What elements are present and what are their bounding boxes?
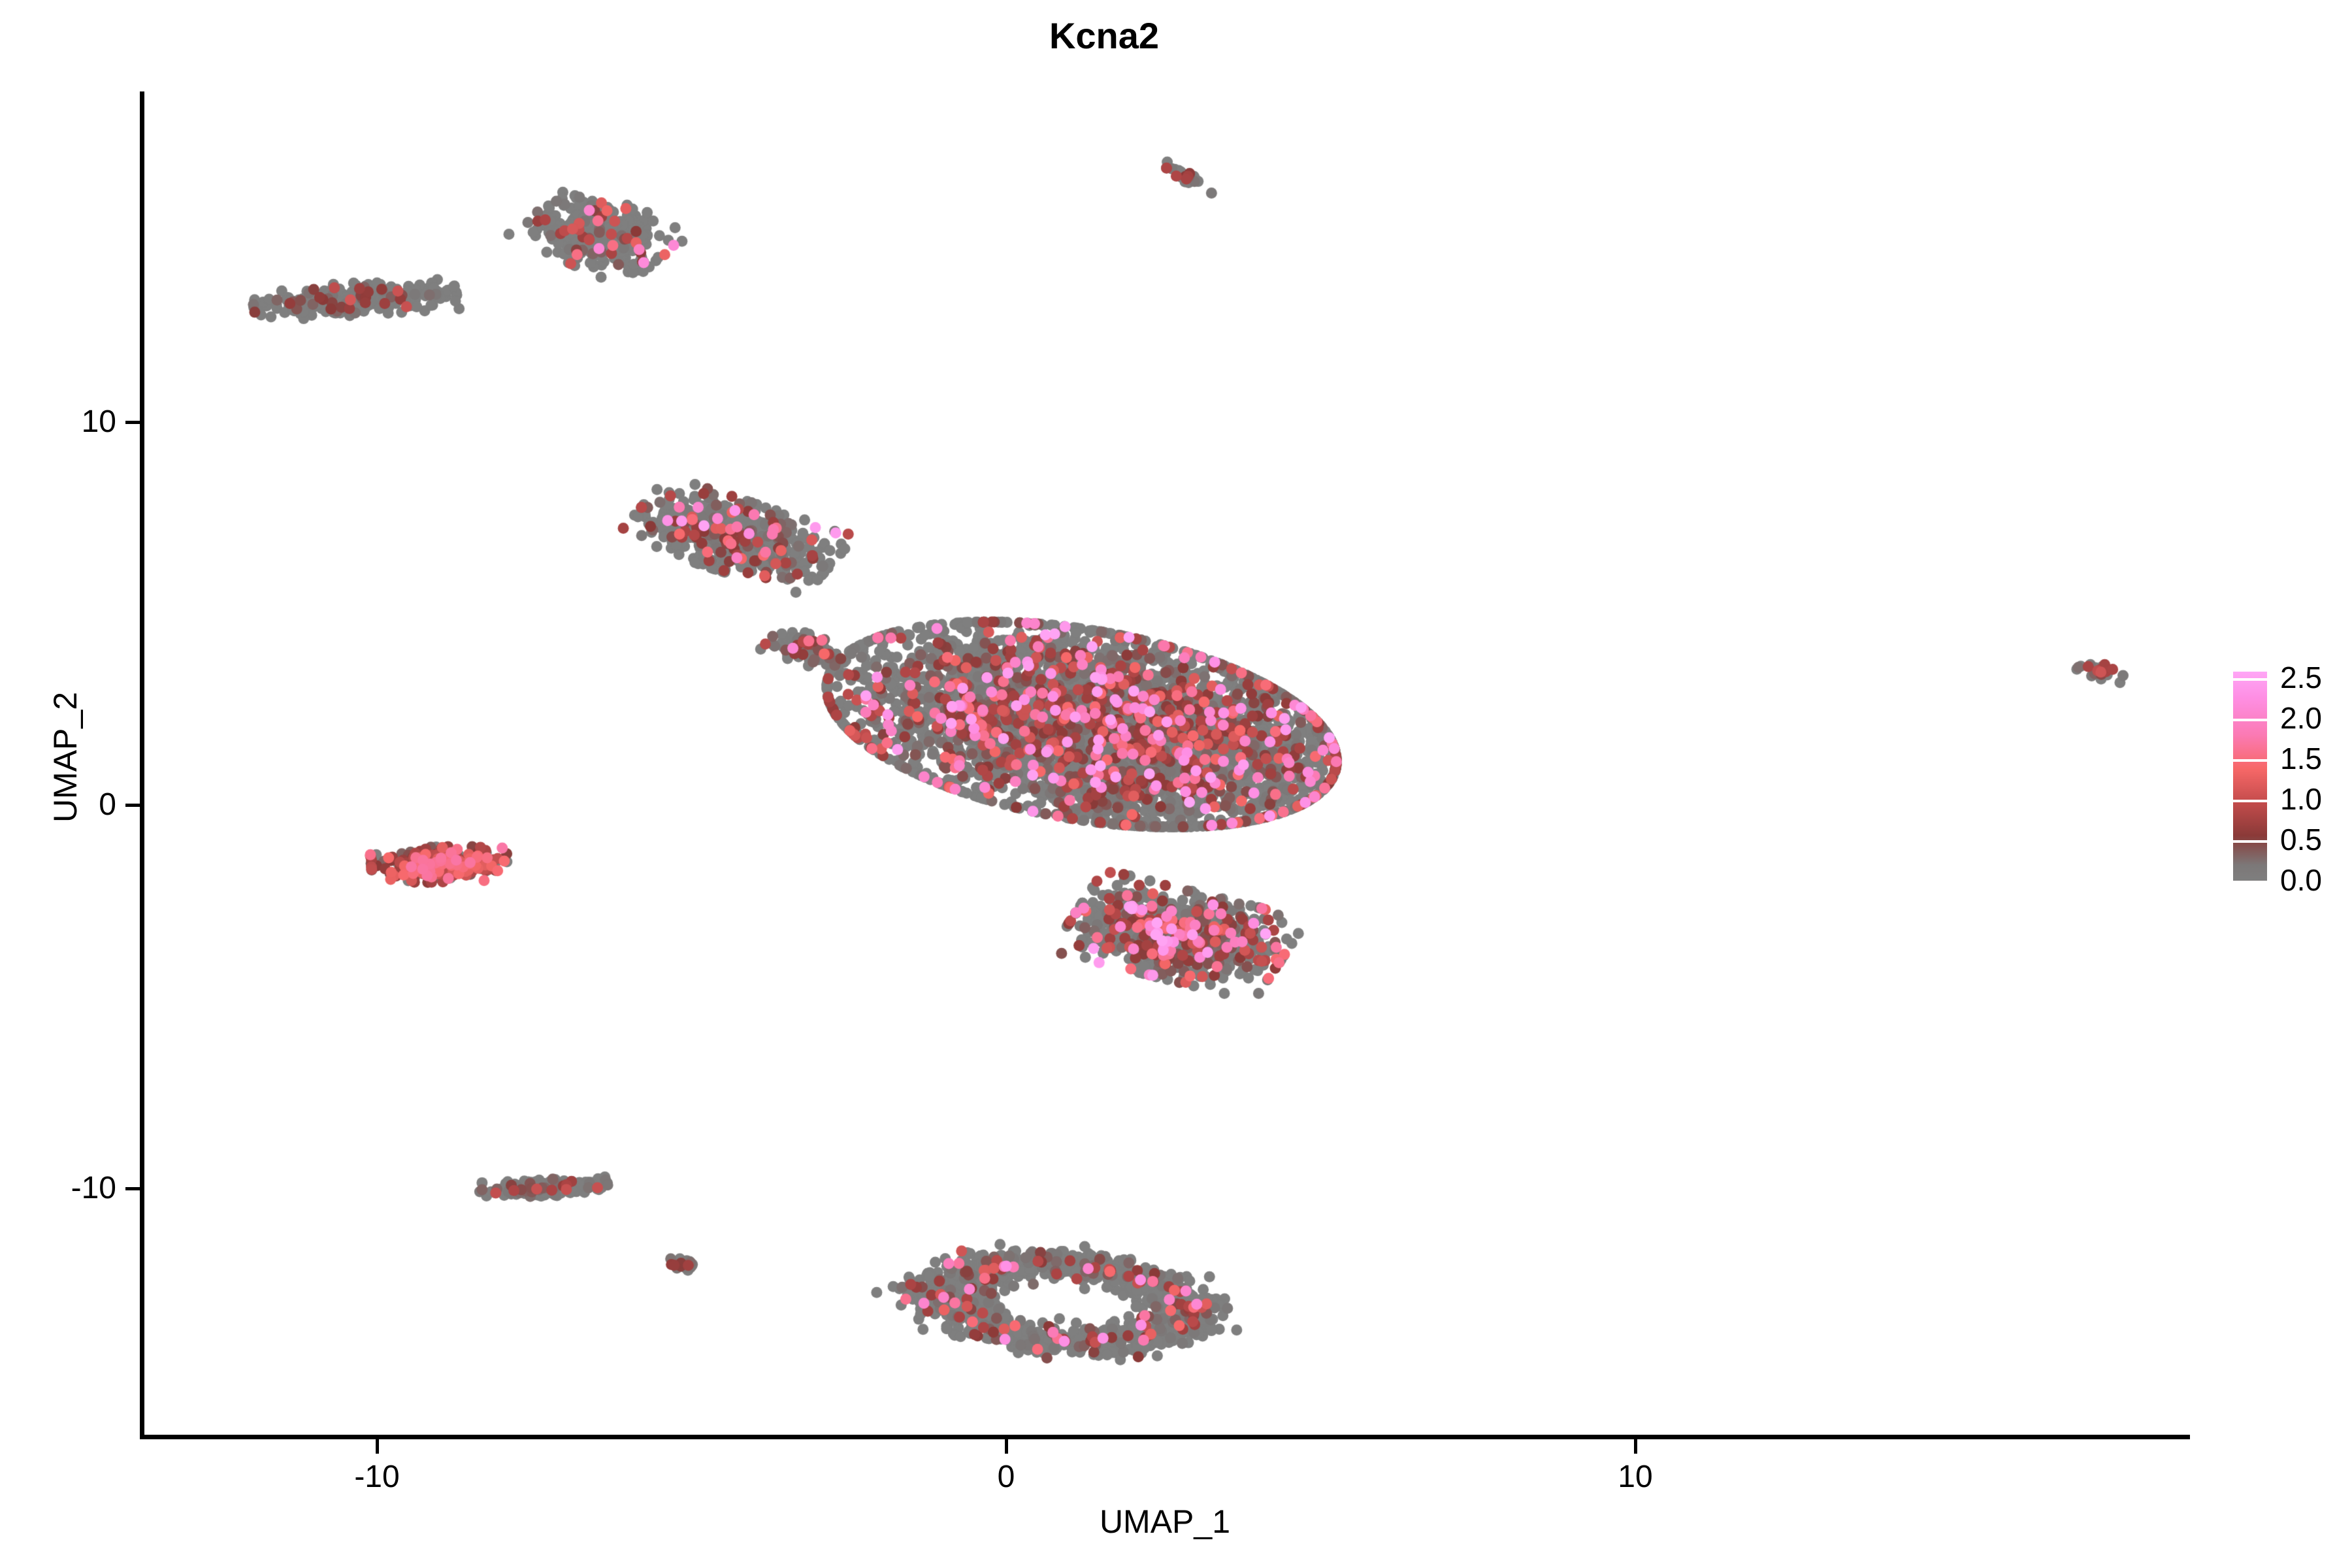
x-tick-mark: [1005, 1439, 1008, 1454]
legend-tick-mark: [2233, 840, 2267, 843]
legend-tick-label: 2.5: [2280, 662, 2322, 693]
x-tick-label: 10: [1563, 1459, 1707, 1495]
legend-tick-mark: [2233, 881, 2267, 883]
plot-panel: [144, 91, 2189, 1436]
color-legend: 0.00.51.01.52.02.5: [2233, 672, 2344, 882]
legend-tick-label: 1.5: [2280, 743, 2322, 774]
x-axis-title: UMAP_1: [140, 1503, 2190, 1541]
x-tick-label: -10: [305, 1459, 449, 1495]
page-title: Kcna2: [0, 14, 2208, 57]
x-tick-label: 0: [934, 1459, 1078, 1495]
y-axis-line: [140, 91, 144, 1439]
legend-tick-mark: [2233, 678, 2267, 681]
x-axis-line: [140, 1435, 2190, 1439]
scatter-plot-canvas: [144, 91, 2189, 1436]
legend-tick-mark: [2233, 800, 2267, 802]
legend-tick-mark: [2233, 759, 2267, 762]
legend-tick-mark: [2233, 719, 2267, 721]
x-tick-mark: [376, 1439, 379, 1454]
legend-tick-label: 1.0: [2280, 784, 2322, 814]
legend-tick-label: 0.0: [2280, 865, 2322, 895]
legend-colorbar: [2233, 672, 2267, 882]
y-axis-title: UMAP_2: [46, 39, 84, 1476]
legend-tick-label: 2.0: [2280, 703, 2322, 733]
legend-tick-label: 0.5: [2280, 825, 2322, 855]
x-tick-mark: [1634, 1439, 1637, 1454]
y-tick-mark: [125, 421, 140, 424]
y-tick-mark: [125, 804, 140, 807]
y-tick-mark: [125, 1187, 140, 1190]
plot-root: Kcna2 -10010 -10010 UMAP_1 UMAP_2 0.00.5…: [0, 0, 2352, 1568]
